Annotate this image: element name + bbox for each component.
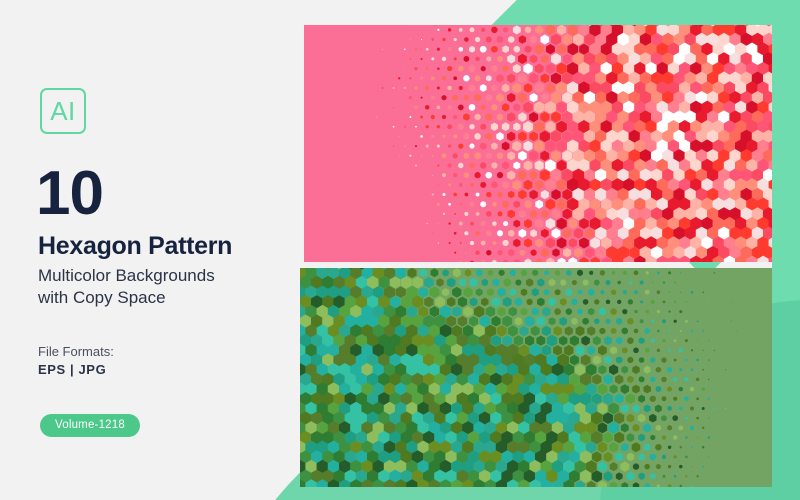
file-formats-label: File Formats: xyxy=(38,344,114,359)
file-formats-value: EPS | JPG xyxy=(38,362,106,377)
item-count: 10 xyxy=(36,163,103,225)
pink-hexagon-pattern xyxy=(304,25,772,262)
pink-hexagon-preview xyxy=(304,25,772,262)
green-hexagon-pattern xyxy=(300,268,772,487)
decor-green-band-right xyxy=(772,0,800,500)
poster-canvas: AI 10 Hexagon Pattern Multicolor Backgro… xyxy=(0,0,800,500)
info-panel: AI 10 Hexagon Pattern Multicolor Backgro… xyxy=(0,0,300,500)
page-title: Hexagon Pattern xyxy=(38,234,232,259)
page-subtitle: Multicolor Backgrounds with Copy Space xyxy=(38,265,288,309)
ai-badge-label: AI xyxy=(50,98,76,124)
volume-badge: Volume-1218 xyxy=(40,414,140,437)
ai-format-badge: AI xyxy=(40,88,86,134)
green-hexagon-preview xyxy=(300,268,772,487)
